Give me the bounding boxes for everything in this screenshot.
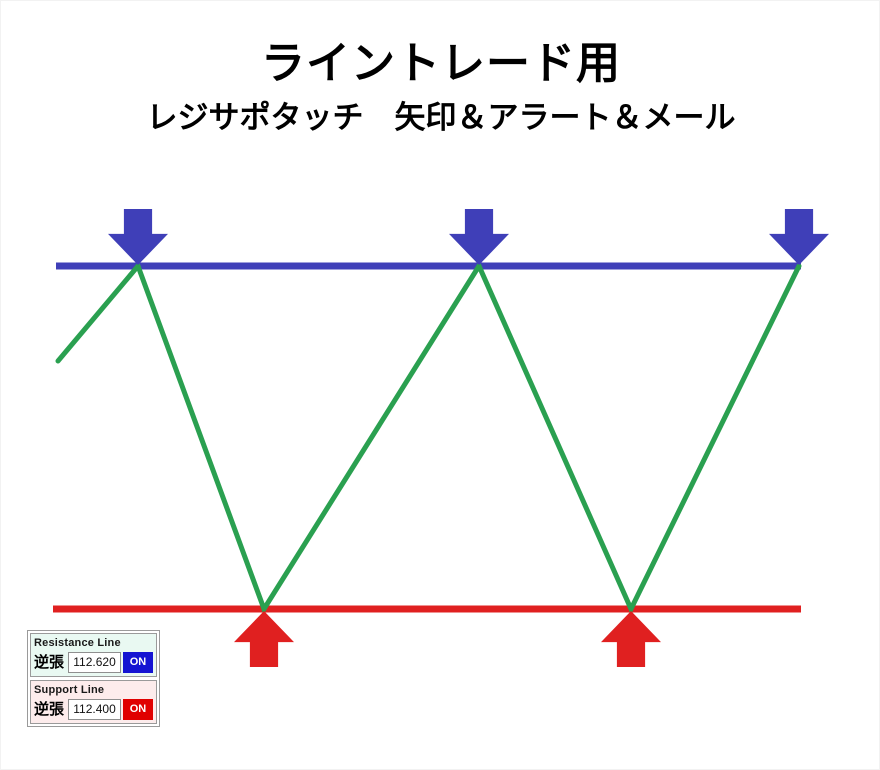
indicator-promo-image: ライントレード用 レジサポタッチ 矢印＆アラート＆メール Resis — [0, 0, 880, 770]
resistance-mode-label: 逆張 — [34, 652, 68, 673]
support-price-input[interactable]: 112.400 — [68, 699, 121, 720]
indicator-control-panel: Resistance Line 逆張 112.620 ON Support Li… — [27, 630, 160, 727]
buy-signal-arrow-2 — [601, 611, 661, 667]
support-panel: Support Line 逆張 112.400 ON — [30, 680, 157, 724]
support-panel-heading: Support Line — [34, 683, 153, 697]
sell-signal-arrow-3 — [769, 209, 829, 265]
sell-signal-arrow-2 — [449, 209, 509, 265]
support-toggle-button[interactable]: ON — [123, 699, 153, 720]
resistance-panel: Resistance Line 逆張 112.620 ON — [30, 633, 157, 677]
support-mode-label: 逆張 — [34, 699, 68, 720]
price-zigzag-line — [58, 266, 799, 609]
resistance-toggle-button[interactable]: ON — [123, 652, 153, 673]
sell-signal-arrow-1 — [108, 209, 168, 265]
buy-signal-arrow-1 — [234, 611, 294, 667]
resistance-panel-heading: Resistance Line — [34, 636, 153, 650]
support-panel-row: 逆張 112.400 ON — [34, 699, 153, 720]
resistance-price-input[interactable]: 112.620 — [68, 652, 121, 673]
resistance-panel-row: 逆張 112.620 ON — [34, 652, 153, 673]
